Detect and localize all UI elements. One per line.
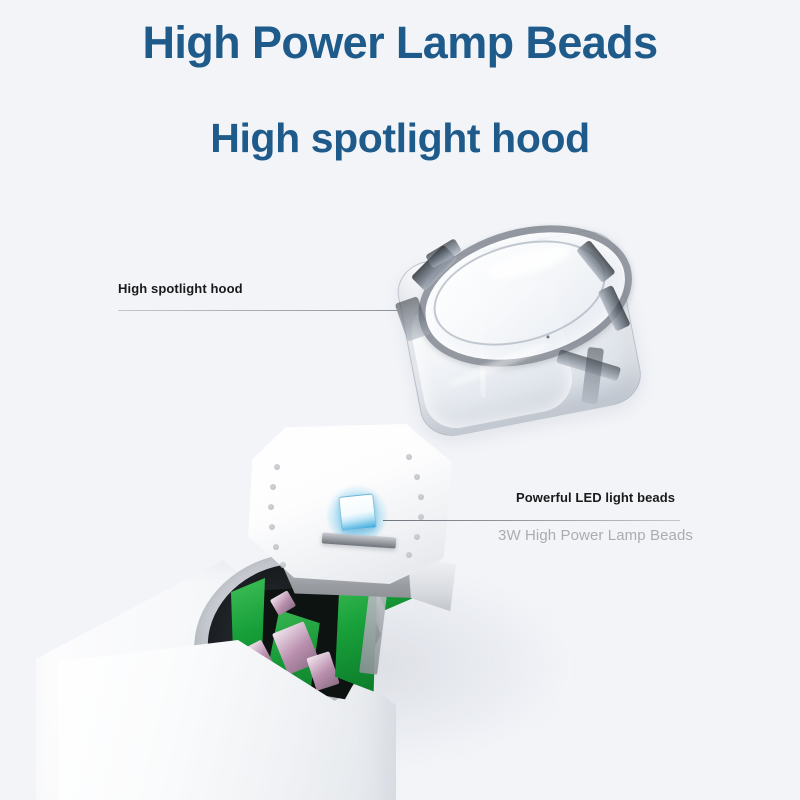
module-dimple: [280, 562, 286, 568]
module-dimple: [269, 524, 275, 530]
page-title: High Power Lamp Beads: [0, 18, 800, 68]
callout-subtitle: 3W High Power Lamp Beads: [498, 527, 693, 544]
module-dimple: [414, 534, 420, 540]
led-chip: [338, 493, 376, 531]
leader-line-spotlight-hood: [118, 310, 402, 311]
page-subtitle: High spotlight hood: [0, 116, 800, 161]
product-infographic: High Power Lamp Beads High spotlight hoo…: [0, 0, 800, 800]
module-dimple: [270, 484, 276, 490]
module-dimple: [406, 552, 412, 558]
leader-line-led-light-beads: [383, 520, 680, 521]
callout-title: Powerful LED light beads: [516, 490, 693, 505]
callout-spotlight-hood: High spotlight hood: [118, 281, 243, 296]
callout-led-light-beads: Powerful LED light beads 3W High Power L…: [516, 490, 693, 544]
module-dimple: [274, 464, 280, 470]
module-dimple: [273, 544, 279, 550]
spotlight-hood: [379, 192, 667, 461]
module-dimple: [414, 474, 420, 480]
callout-title: High spotlight hood: [118, 281, 243, 296]
module-dimple: [418, 494, 424, 500]
module-dimple: [406, 454, 412, 460]
module-dimple: [268, 504, 274, 510]
